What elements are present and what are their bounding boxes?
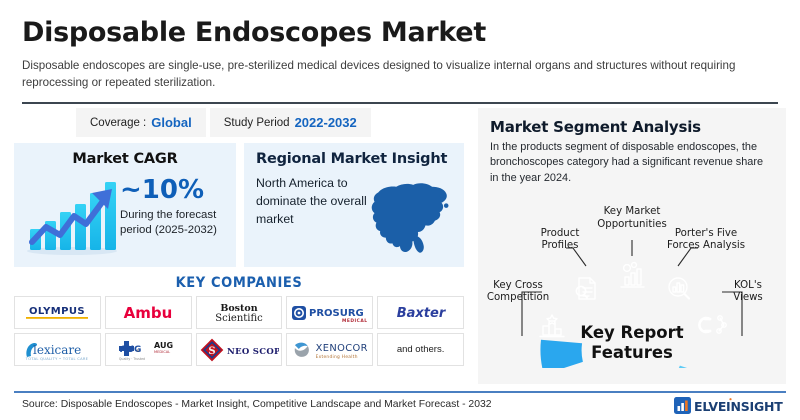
svg-text:S: S — [208, 346, 215, 357]
label-key-cross-competition-1: Key Cross — [493, 280, 543, 291]
svg-text:AUG: AUG — [154, 341, 173, 350]
bar-chart-gear-icon — [621, 263, 644, 287]
delveinsight-logo[interactable]: ELVE INSIGHT — [674, 396, 786, 420]
market-cagr-heading: Market CAGR — [24, 151, 226, 167]
svg-text:PROSURG: PROSURG — [309, 308, 364, 319]
label-porters-five-forces-1: Porter's Five — [675, 228, 737, 239]
svg-text:XENOCOR: XENOCOR — [316, 342, 368, 353]
coverage-box: Coverage : Global — [76, 108, 206, 137]
market-cagr-note: During the forecast period (2025-2032) — [120, 208, 226, 238]
footer-divider — [14, 391, 786, 393]
coverage-value: Global — [151, 115, 191, 130]
growth-bar-chart-icon — [24, 171, 120, 257]
key-companies-title: KEY COMPANIES — [14, 275, 464, 291]
study-period-value: 2022-2032 — [295, 115, 357, 130]
segment-analysis-text: In the products segment of disposable en… — [490, 140, 774, 186]
logo-aug-medical[interactable]: AUG ® AUG MEDICAL Quality · Trusted — [105, 333, 192, 366]
coverage-label: Coverage : — [90, 117, 146, 129]
document-search-icon — [576, 278, 595, 299]
svg-text:lexicare: lexicare — [33, 343, 81, 357]
regional-market-insight-card: Regional Market Insight North America to… — [244, 143, 464, 267]
svg-text:OLYMPUS: OLYMPUS — [29, 306, 85, 317]
label-key-cross-competition-2: Competition — [487, 292, 549, 303]
study-period-box: Study Period 2022-2032 — [210, 108, 371, 137]
header-divider — [22, 102, 778, 104]
and-others-label: and others. — [397, 344, 445, 355]
page-subtitle: Disposable endoscopes are single-use, pr… — [22, 57, 738, 92]
logo-baxter[interactable]: Baxter — [377, 296, 464, 329]
right-panel: Market Segment Analysis In the products … — [478, 108, 786, 384]
study-period-label: Study Period — [224, 117, 290, 129]
regional-insight-text: North America to dominate the overall ma… — [254, 175, 367, 257]
svg-text:®: ® — [136, 349, 139, 353]
svg-text:Scientific: Scientific — [215, 313, 263, 324]
logo-boston-scientific[interactable]: Boston Scientific — [196, 296, 283, 329]
key-report-features: Key Cross Competition Product Profiles K… — [478, 196, 786, 368]
magnifier-chart-icon — [669, 278, 689, 299]
svg-text:INSIGHT: INSIGHT — [726, 399, 783, 414]
infographic-page: Disposable Endoscopes Market Disposable … — [0, 0, 800, 420]
svg-text:MEDICAL: MEDICAL — [154, 350, 170, 354]
label-kols-views-1: KOL's — [734, 280, 762, 291]
svg-text:Extending Health: Extending Health — [316, 353, 358, 359]
logo-prosurg-medical[interactable]: PROSURG MEDICAL — [286, 296, 373, 329]
key-report-features-line1: Key Report — [580, 323, 683, 342]
label-key-market-opportunities-2: Opportunities — [597, 219, 667, 230]
label-key-market-opportunities-1: Key Market — [604, 206, 661, 217]
label-product-profiles-1: Product — [541, 228, 580, 239]
logo-olympus[interactable]: OLYMPUS — [14, 296, 101, 329]
logo-flexicare[interactable]: lexicare TOTAL QUALITY • TOTAL CARE — [14, 333, 101, 366]
logo-neo-scope[interactable]: S NEO SCOPE — [196, 333, 283, 366]
svg-text:Quality · Trusted: Quality · Trusted — [119, 357, 145, 361]
key-companies-grid: OLYMPUS Ambu Boston Scientific — [14, 296, 464, 366]
label-porters-five-forces-2: Forces Analysis — [667, 240, 745, 251]
header: Disposable Endoscopes Market Disposable … — [22, 18, 778, 91]
svg-text:TOTAL QUALITY • TOTAL CARE: TOTAL QUALITY • TOTAL CARE — [25, 357, 89, 361]
meta-row: Coverage : Global Study Period 2022-2032 — [76, 108, 464, 137]
label-product-profiles-2: Profiles — [542, 240, 579, 251]
market-segment-analysis: Market Segment Analysis In the products … — [478, 108, 786, 194]
svg-text:MEDICAL: MEDICAL — [342, 318, 368, 324]
key-report-features-line2: Features — [591, 343, 673, 362]
magnet-network-icon — [699, 316, 726, 333]
logo-ambu[interactable]: Ambu — [105, 296, 192, 329]
north-america-map-icon — [367, 175, 454, 257]
podium-icon — [540, 315, 564, 337]
label-kols-views-2: Views — [733, 292, 762, 303]
key-companies-section: KEY COMPANIES OLYMPUS Ambu Boston — [14, 275, 464, 366]
logo-and-others: and others. — [377, 333, 464, 366]
svg-text:Baxter: Baxter — [396, 306, 446, 321]
market-cagr-value: ~10% — [120, 177, 226, 203]
svg-text:NEO SCOPE: NEO SCOPE — [227, 347, 279, 357]
segment-analysis-heading: Market Segment Analysis — [490, 118, 774, 136]
market-cagr-card: Market CAGR — [14, 143, 236, 267]
left-column: Coverage : Global Study Period 2022-2032… — [14, 108, 464, 366]
highlight-cards: Market CAGR — [14, 143, 464, 267]
footer-source: Source: Disposable Endoscopes - Market I… — [22, 399, 492, 410]
page-title: Disposable Endoscopes Market — [22, 18, 778, 48]
svg-text:ELVE: ELVE — [694, 399, 726, 414]
fan-segment-kols-views — [665, 365, 719, 369]
regional-insight-heading: Regional Market Insight — [254, 151, 454, 167]
logo-xenocor[interactable]: XENOCOR Extending Health — [286, 333, 373, 366]
svg-text:Ambu: Ambu — [124, 304, 173, 322]
